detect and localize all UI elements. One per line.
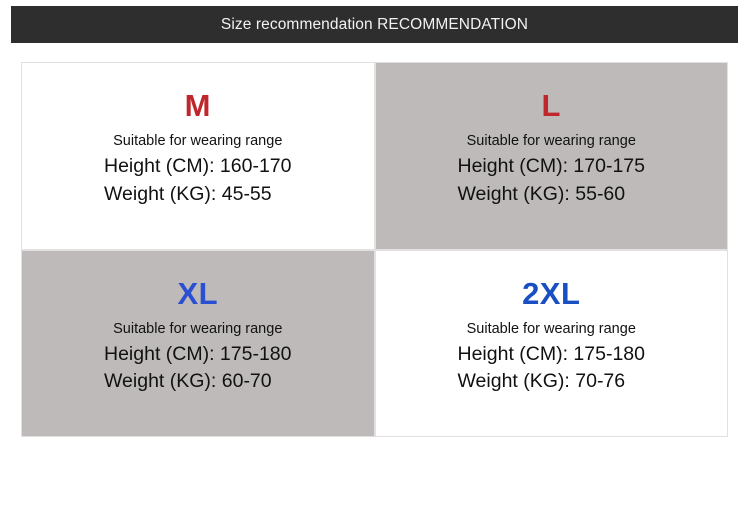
- size-details-xl: Suitable for wearing range Height (CM): …: [22, 320, 374, 397]
- size-details-2xl: Suitable for wearing range Height (CM): …: [376, 320, 728, 397]
- weight-range-l: Weight (KG): 55-60: [458, 181, 626, 209]
- size-cell-l: L Suitable for wearing range Height (CM)…: [375, 62, 729, 250]
- height-range-xl: Height (CM): 175-180: [104, 341, 292, 369]
- weight-range-2xl: Weight (KG): 70-76: [458, 368, 626, 396]
- height-range-2xl: Height (CM): 175-180: [458, 341, 646, 369]
- size-cell-m: M Suitable for wearing range Height (CM)…: [21, 62, 375, 250]
- page-title: Size recommendation RECOMMENDATION: [221, 17, 528, 33]
- measure-block-xl: Height (CM): 175-180 Weight (KG): 60-70: [104, 341, 292, 396]
- size-cell-xl: XL Suitable for wearing range Height (CM…: [21, 250, 375, 438]
- size-cell-2xl: 2XL Suitable for wearing range Height (C…: [375, 250, 729, 438]
- suitable-range-label-xl: Suitable for wearing range: [113, 320, 282, 338]
- measure-block-m: Height (CM): 160-170 Weight (KG): 45-55: [104, 153, 292, 208]
- suitable-range-label-l: Suitable for wearing range: [467, 132, 636, 150]
- height-range-m: Height (CM): 160-170: [104, 153, 292, 181]
- size-label-xl: XL: [177, 278, 218, 309]
- size-recommendation-grid: M Suitable for wearing range Height (CM)…: [21, 62, 728, 437]
- size-details-l: Suitable for wearing range Height (CM): …: [376, 132, 728, 209]
- size-chart-page: Size recommendation RECOMMENDATION M Sui…: [0, 0, 750, 518]
- size-label-m: M: [185, 90, 211, 121]
- measure-block-l: Height (CM): 170-175 Weight (KG): 55-60: [458, 153, 646, 208]
- suitable-range-label-2xl: Suitable for wearing range: [467, 320, 636, 338]
- height-range-l: Height (CM): 170-175: [458, 153, 646, 181]
- size-details-m: Suitable for wearing range Height (CM): …: [22, 132, 374, 209]
- weight-range-xl: Weight (KG): 60-70: [104, 368, 272, 396]
- measure-block-2xl: Height (CM): 175-180 Weight (KG): 70-76: [458, 341, 646, 396]
- header-banner: Size recommendation RECOMMENDATION: [11, 6, 738, 43]
- suitable-range-label-m: Suitable for wearing range: [113, 132, 282, 150]
- size-label-l: L: [542, 90, 561, 121]
- weight-range-m: Weight (KG): 45-55: [104, 181, 272, 209]
- size-label-2xl: 2XL: [522, 278, 580, 309]
